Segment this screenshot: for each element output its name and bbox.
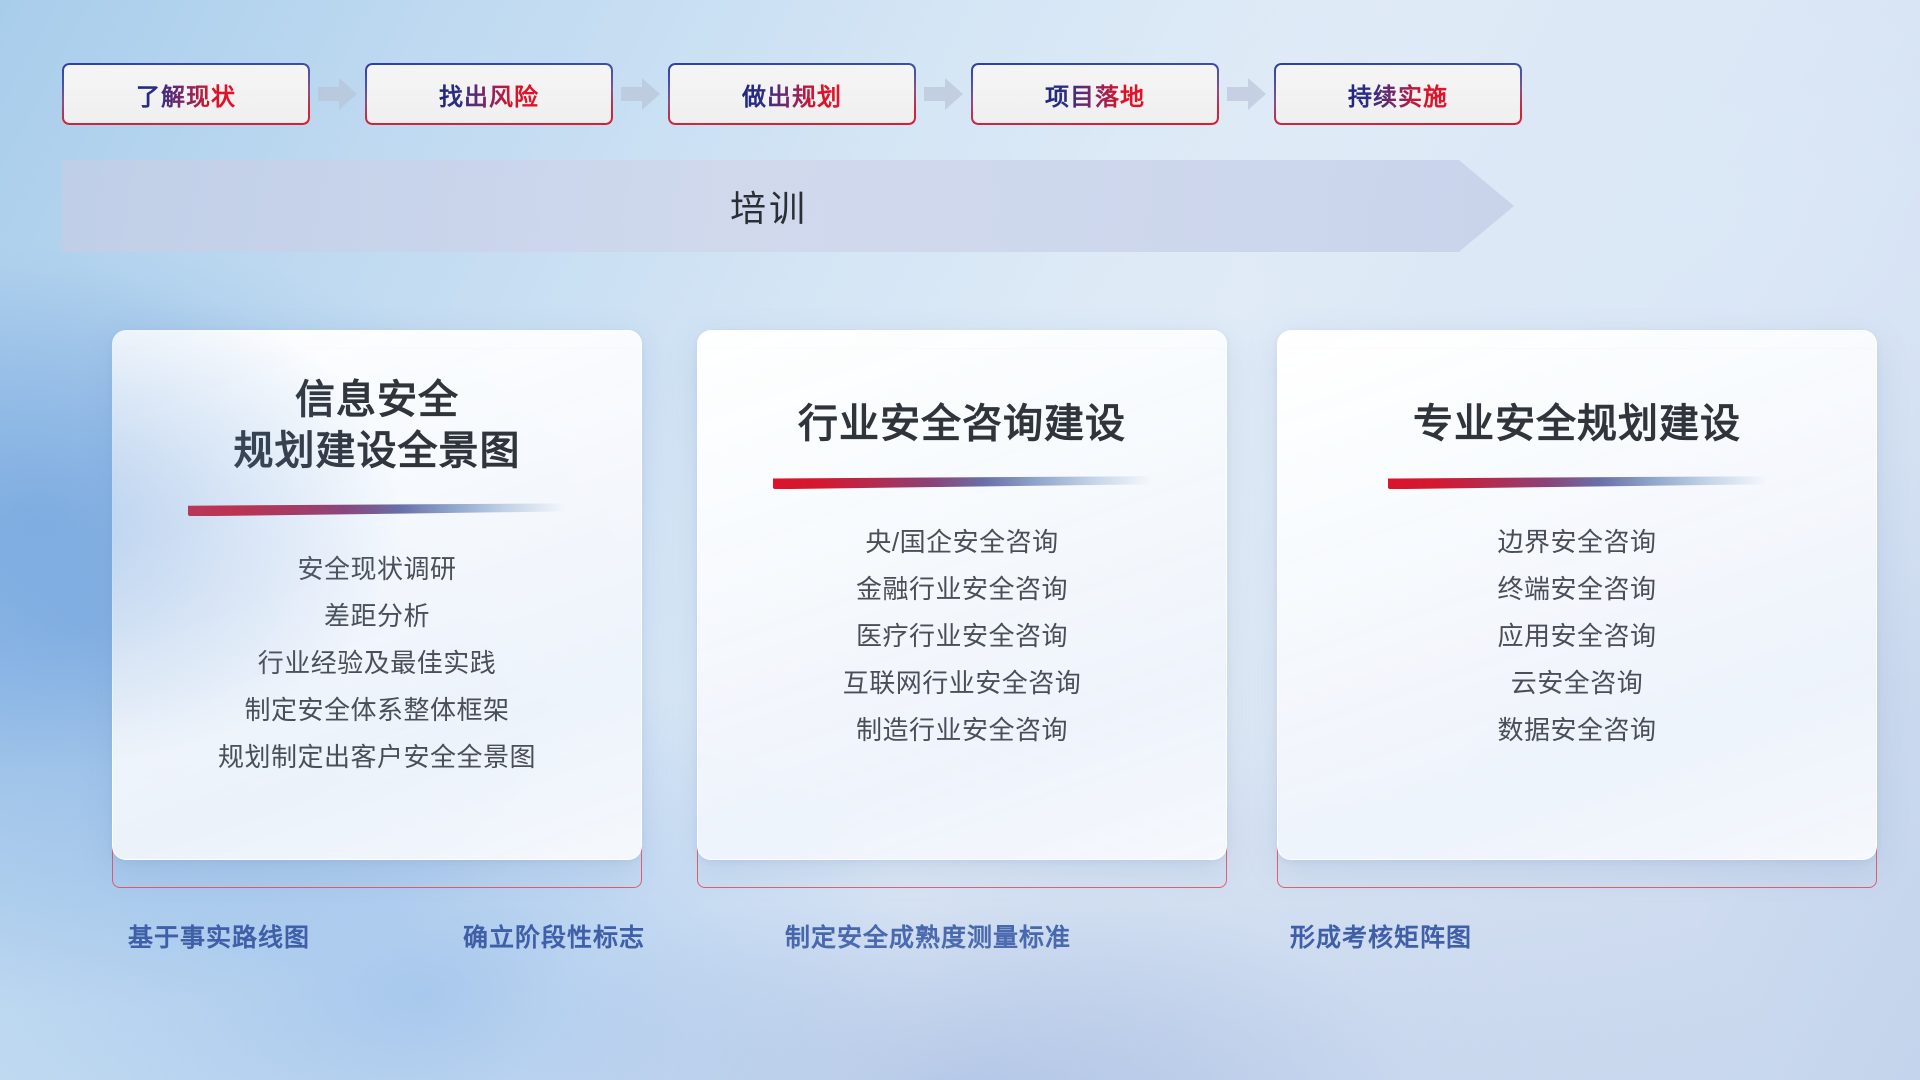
list-item: 行业经验及最佳实践 xyxy=(143,640,611,687)
list-item: 安全现状调研 xyxy=(143,546,611,593)
list-item: 央/国企安全咨询 xyxy=(728,519,1196,566)
caption-label: 确立阶段性标志 xyxy=(463,918,645,954)
caption-row: 基于事实路线图 确立阶段性标志 制定安全成熟度测量标准 形成考核矩阵图 xyxy=(0,918,1920,962)
step-box-3[interactable]: 做出规划 xyxy=(668,63,916,125)
list-item: 金融行业安全咨询 xyxy=(728,566,1196,613)
list-item: 云安全咨询 xyxy=(1308,660,1846,707)
card-title: 行业安全咨询建设 xyxy=(798,399,1126,450)
caption-label: 制定安全成熟度测量标准 xyxy=(785,918,1071,954)
list-item: 终端安全咨询 xyxy=(1308,566,1846,613)
list-item: 互联网行业安全咨询 xyxy=(728,660,1196,707)
list-item: 制定安全体系整体框架 xyxy=(143,687,611,734)
list-item: 制造行业安全咨询 xyxy=(728,707,1196,754)
list-item: 差距分析 xyxy=(143,593,611,640)
training-banner: 培训 xyxy=(62,160,1514,252)
list-item: 规划制定出客户安全全景图 xyxy=(143,734,611,781)
list-item: 边界安全咨询 xyxy=(1308,519,1846,566)
step-label: 持续实施 xyxy=(1348,77,1448,112)
card-divider xyxy=(188,503,566,516)
card-divider xyxy=(773,476,1151,489)
chevron-right-arrow-icon xyxy=(621,77,660,111)
step-label: 做出规划 xyxy=(742,77,842,112)
step-box-5[interactable]: 持续实施 xyxy=(1274,63,1522,125)
card-title: 信息安全 规划建设全景图 xyxy=(234,375,521,477)
card-row: 信息安全 规划建设全景图 安全现状调研 差距分析 行业经验及最佳实践 制定安全体… xyxy=(0,330,1920,890)
chevron-right-arrow-icon xyxy=(318,77,357,111)
caption-label: 形成考核矩阵图 xyxy=(1290,918,1472,954)
step-box-1[interactable]: 了解现状 xyxy=(62,63,310,125)
chevron-right-arrow-icon xyxy=(1227,77,1266,111)
step-flow: 了解现状 找出风险 做出规划 项目落地 持续实施 xyxy=(62,63,1858,125)
caption-label: 基于事实路线图 xyxy=(128,918,310,954)
card-item-list: 央/国企安全咨询 金融行业安全咨询 医疗行业安全咨询 互联网行业安全咨询 制造行… xyxy=(728,519,1196,754)
list-item: 应用安全咨询 xyxy=(1308,613,1846,660)
step-label: 找出风险 xyxy=(439,77,539,112)
card-2[interactable]: 行业安全咨询建设 央/国企安全咨询 金融行业安全咨询 医疗行业安全咨询 互联网行… xyxy=(697,330,1227,860)
step-label: 了解现状 xyxy=(136,77,236,112)
card-3[interactable]: 专业安全规划建设 边界安全咨询 终端安全咨询 应用安全咨询 云安全咨询 数据安全… xyxy=(1277,330,1877,860)
card-1[interactable]: 信息安全 规划建设全景图 安全现状调研 差距分析 行业经验及最佳实践 制定安全体… xyxy=(112,330,642,860)
step-box-4[interactable]: 项目落地 xyxy=(971,63,1219,125)
chevron-right-arrow-icon xyxy=(924,77,963,111)
card-item-list: 边界安全咨询 终端安全咨询 应用安全咨询 云安全咨询 数据安全咨询 xyxy=(1308,519,1846,754)
card-title: 专业安全规划建设 xyxy=(1413,399,1741,450)
card-divider xyxy=(1388,476,1766,489)
training-banner-label: 培训 xyxy=(62,160,1514,252)
list-item: 数据安全咨询 xyxy=(1308,707,1846,754)
slide-canvas: 了解现状 找出风险 做出规划 项目落地 持续实施 培训 xyxy=(0,0,1920,1080)
step-label: 项目落地 xyxy=(1045,77,1145,112)
card-item-list: 安全现状调研 差距分析 行业经验及最佳实践 制定安全体系整体框架 规划制定出客户… xyxy=(143,546,611,781)
list-item: 医疗行业安全咨询 xyxy=(728,613,1196,660)
step-box-2[interactable]: 找出风险 xyxy=(365,63,613,125)
